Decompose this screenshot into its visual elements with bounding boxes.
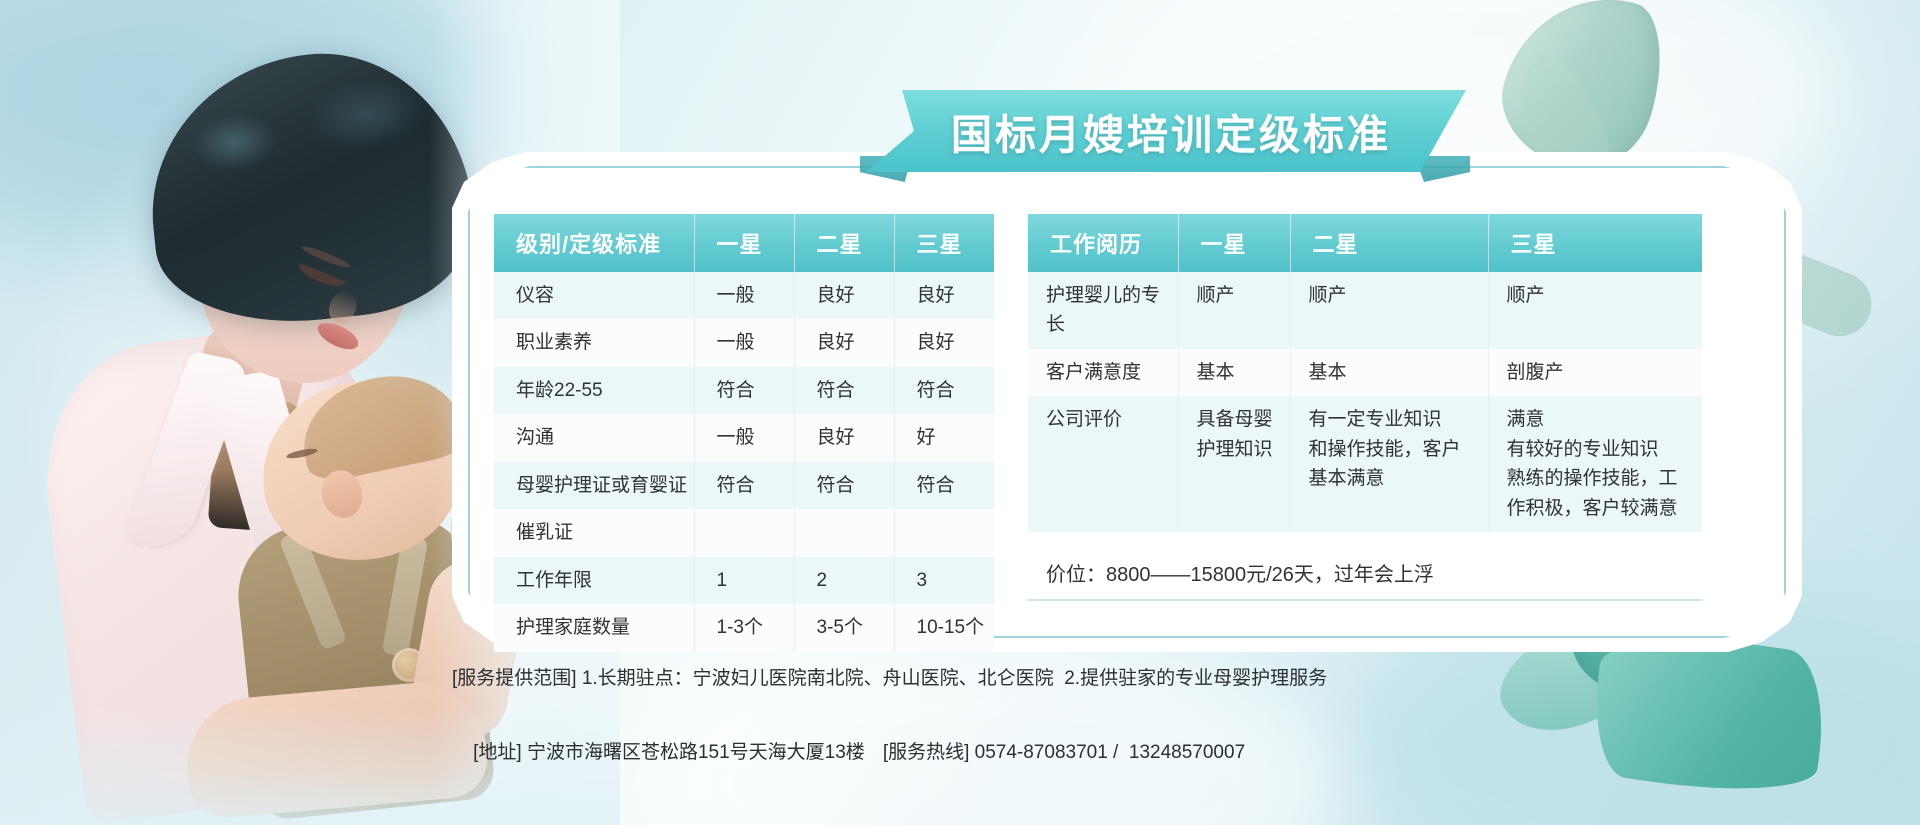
cell-two-star (794, 509, 894, 556)
cell-two-star: 顺产 (1290, 272, 1488, 349)
price-note: 价位：8800——15800元/26天，过年会上浮 (1028, 558, 1702, 587)
column-header-one-star: 一星 (1178, 214, 1290, 272)
page-title: 国标月嫂培训定级标准 (866, 90, 1466, 172)
cell-one-star: 基本 (1178, 349, 1290, 396)
cell-one-star: 1-3个 (694, 604, 794, 651)
cell-two-star: 符合 (794, 462, 894, 509)
cell-two-star: 符合 (794, 367, 894, 414)
cell-one-star: 一般 (694, 272, 794, 319)
cell-one-star: 具备母婴 护理知识 (1178, 396, 1290, 532)
cell-three-star: 满意 有较好的专业知识 熟练的操作技能，工 作积极，客户较满意 (1488, 396, 1702, 532)
cell-experience: 公司评价 (1028, 396, 1178, 532)
table-row: 职业素养 一般 良好 良好 (494, 319, 994, 366)
tables-container: 级别/定级标准 一星 二星 三星 仪容 一般 良好 良好 职业素养 一般 良好 (494, 214, 1762, 652)
table-row: 护理婴儿的专长 顺产 顺产 顺产 (1028, 272, 1702, 349)
column-header-experience: 工作阅历 (1028, 214, 1178, 272)
cell-three-star (894, 509, 994, 556)
table-header-row: 级别/定级标准 一星 二星 三星 (494, 214, 994, 272)
table-row: 催乳证 (494, 509, 994, 556)
cell-three-star: 顺产 (1488, 272, 1702, 349)
cell-three-star: 良好 (894, 319, 994, 366)
cell-one-star: 一般 (694, 414, 794, 461)
table-row: 客户满意度 基本 基本 剖腹产 (1028, 349, 1702, 396)
cell-line: 顺产 (1507, 281, 1691, 310)
cell-three-star: 3 (894, 557, 994, 604)
cell-line: 基本 (1197, 358, 1278, 387)
cell-two-star: 良好 (794, 272, 894, 319)
cell-line: 作积极，客户较满意 (1507, 494, 1691, 523)
cell-two-star: 有一定专业知识 和操作技能，客户 基本满意 (1290, 396, 1488, 532)
cell-three-star: 10-15个 (894, 604, 994, 651)
cell-line: 有较好的专业知识 (1507, 435, 1691, 464)
hotline-text: [服务热线] 0574-87083701 / 13248570007 (883, 742, 1245, 763)
cell-one-star: 一般 (694, 319, 794, 366)
cell-experience: 客户满意度 (1028, 349, 1178, 396)
table-row: 仪容 一般 良好 良好 (494, 272, 994, 319)
cell-one-star (694, 509, 794, 556)
address-text: [地址] 宁波市海曙区苍松路151号天海大厦13楼 (473, 742, 865, 763)
cell-line: 顺产 (1197, 281, 1278, 310)
cell-one-star: 符合 (694, 367, 794, 414)
cell-three-star: 符合 (894, 462, 994, 509)
cell-three-star: 好 (894, 414, 994, 461)
cell-line: 熟练的操作技能，工 (1507, 464, 1691, 493)
column-header-two-star: 二星 (794, 214, 894, 272)
cell-three-star: 剖腹产 (1488, 349, 1702, 396)
cell-two-star: 基本 (1290, 349, 1488, 396)
cell-criteria: 护理家庭数量 (494, 604, 694, 651)
section-divider (1028, 599, 1702, 601)
content-card: 级别/定级标准 一星 二星 三星 仪容 一般 良好 良好 职业素养 一般 良好 (452, 152, 1802, 652)
title-banner: 国标月嫂培训定级标准 (866, 90, 1466, 172)
cell-one-star: 顺产 (1178, 272, 1290, 349)
cell-line: 剖腹产 (1507, 358, 1691, 387)
cell-criteria: 年龄22-55 (494, 367, 694, 414)
column-header-three-star: 三星 (894, 214, 994, 272)
cell-line: 护理知识 (1197, 435, 1278, 464)
cell-three-star: 符合 (894, 367, 994, 414)
cell-three-star: 良好 (894, 272, 994, 319)
cell-line: 和操作技能，客户 (1309, 435, 1476, 464)
cell-two-star: 良好 (794, 319, 894, 366)
column-header-three-star: 三星 (1488, 214, 1702, 272)
cell-criteria: 工作年限 (494, 557, 694, 604)
grading-standard-table: 级别/定级标准 一星 二星 三星 仪容 一般 良好 良好 职业素养 一般 良好 (494, 214, 994, 652)
cell-two-star: 2 (794, 557, 894, 604)
table-row: 母婴护理证或育婴证 符合 符合 符合 (494, 462, 994, 509)
cell-line: 基本满意 (1309, 464, 1476, 493)
cell-line: 满意 (1507, 405, 1691, 434)
column-header-criteria: 级别/定级标准 (494, 214, 694, 272)
cell-criteria: 母婴护理证或育婴证 (494, 462, 694, 509)
cell-criteria: 职业素养 (494, 319, 694, 366)
cell-one-star: 符合 (694, 462, 794, 509)
work-experience-table: 工作阅历 一星 二星 三星 护理婴儿的专长 顺产 顺产 (1028, 214, 1702, 532)
cell-one-star: 1 (694, 557, 794, 604)
footer-info: [服务提供范围] 1.长期驻点：宁波妇儿医院南北院、舟山医院、北仑医院 2.提供… (452, 660, 1752, 808)
table-header-row: 工作阅历 一星 二星 三星 (1028, 214, 1702, 272)
cell-line: 基本 (1309, 358, 1476, 387)
cell-experience: 护理婴儿的专长 (1028, 272, 1178, 349)
experience-section: 工作阅历 一星 二星 三星 护理婴儿的专长 顺产 顺产 (1028, 214, 1702, 587)
address-hotline-line: [地址] 宁波市海曙区苍松路151号天海大厦13楼[服务热线] 0574-870… (452, 697, 1752, 808)
column-header-one-star: 一星 (694, 214, 794, 272)
column-header-two-star: 二星 (1290, 214, 1488, 272)
cell-criteria: 仪容 (494, 272, 694, 319)
table-row: 年龄22-55 符合 符合 符合 (494, 367, 994, 414)
cell-two-star: 良好 (794, 414, 894, 461)
table-row: 沟通 一般 良好 好 (494, 414, 994, 461)
table-row: 护理家庭数量 1-3个 3-5个 10-15个 (494, 604, 994, 651)
table-row: 工作年限 1 2 3 (494, 557, 994, 604)
cell-line: 有一定专业知识 (1309, 405, 1476, 434)
service-scope-line: [服务提供范围] 1.长期驻点：宁波妇儿医院南北院、舟山医院、北仑医院 2.提供… (452, 660, 1752, 697)
cell-line: 顺产 (1309, 281, 1476, 310)
cell-line: 具备母婴 (1197, 405, 1278, 434)
cell-criteria: 沟通 (494, 414, 694, 461)
cell-two-star: 3-5个 (794, 604, 894, 651)
cell-criteria: 催乳证 (494, 509, 694, 556)
table-row: 公司评价 具备母婴 护理知识 有一定专业知识 和操作技能，客户 基本满意 满意 (1028, 396, 1702, 532)
